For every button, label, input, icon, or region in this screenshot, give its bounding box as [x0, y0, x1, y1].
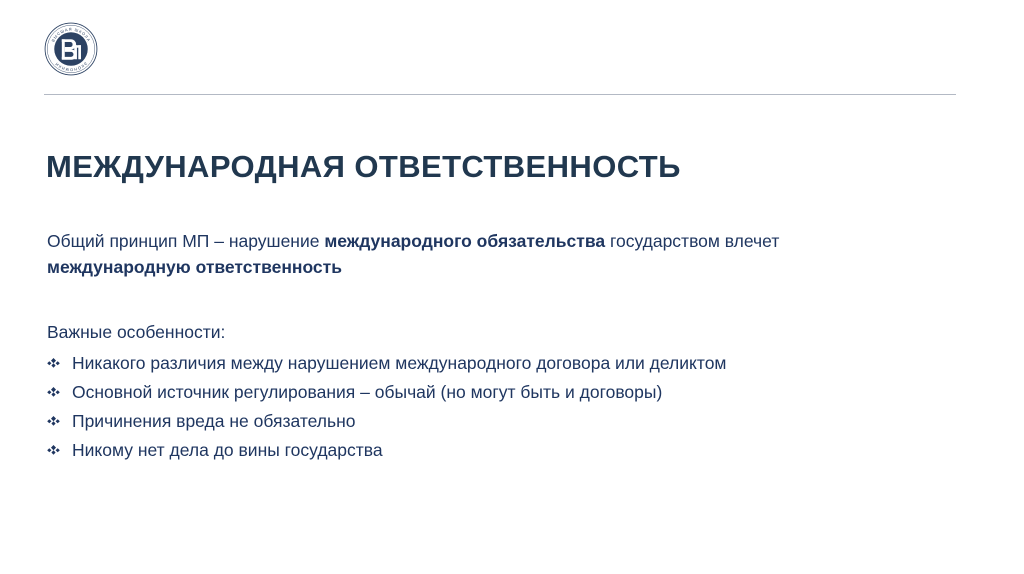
- diamond-bullet-icon: [47, 350, 65, 368]
- intro-paragraph: Общий принцип МП – нарушение международн…: [47, 228, 947, 280]
- diamond-bullet-icon: [47, 408, 65, 426]
- intro-line-2: международную ответственность: [47, 254, 947, 280]
- diamond-bullet-glyph: [47, 358, 60, 368]
- page-title: МЕЖДУНАРОДНАЯ ОТВЕТСТВЕННОСТЬ: [46, 148, 681, 185]
- diamond-bullet-icon: [47, 437, 65, 455]
- hse-logo-icon: ВЫСШАЯ ШКОЛА ЭКОНОМИКИ: [44, 22, 98, 76]
- diamond-bullet-glyph: [47, 445, 60, 455]
- list-item-label: Основной источник регулирования – обычай…: [72, 382, 662, 402]
- list-item: Никакого различия между нарушением между…: [47, 350, 947, 376]
- list-item: Причинения вреда не обязательно: [47, 408, 947, 434]
- hse-logo: ВЫСШАЯ ШКОЛА ЭКОНОМИКИ: [44, 22, 98, 76]
- list-item-label: Причинения вреда не обязательно: [72, 411, 356, 431]
- list-item-label: Никакого различия между нарушением между…: [72, 353, 726, 373]
- intro-text-tail: государством влечет: [605, 231, 779, 251]
- header-divider: [44, 94, 956, 95]
- list-item: Никому нет дела до вины государства: [47, 437, 947, 463]
- intro-text-bold-2: международную ответственность: [47, 257, 342, 277]
- diamond-bullet-icon: [47, 379, 65, 397]
- list-item: Основной источник регулирования – обычай…: [47, 379, 947, 405]
- intro-text-bold-1: международного обязательства: [324, 231, 605, 251]
- intro-text-lead: Общий принцип МП – нарушение: [47, 231, 324, 251]
- slide-canvas: ВЫСШАЯ ШКОЛА ЭКОНОМИКИ МЕЖДУНАРОДНАЯ ОТВ…: [0, 0, 1024, 574]
- features-block: Важные особенности: Никакого различия ме…: [47, 319, 947, 466]
- diamond-bullet-glyph: [47, 387, 60, 397]
- diamond-bullet-glyph: [47, 416, 60, 426]
- features-heading: Важные особенности:: [47, 319, 947, 345]
- intro-line-1: Общий принцип МП – нарушение международн…: [47, 228, 947, 254]
- list-item-label: Никому нет дела до вины государства: [72, 440, 383, 460]
- features-list: Никакого различия между нарушением между…: [47, 350, 947, 463]
